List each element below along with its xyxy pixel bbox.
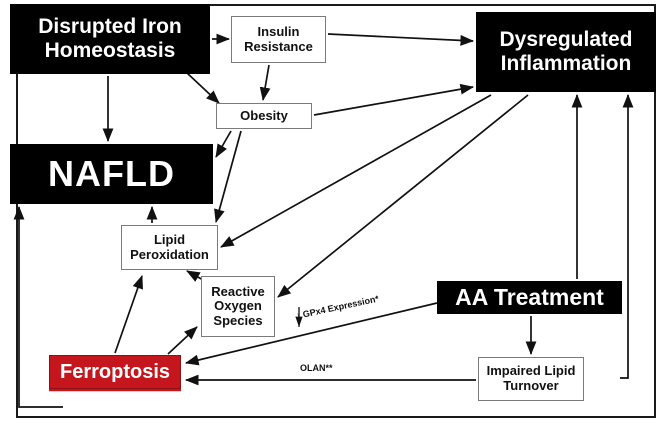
node-disrupted-iron-homeostasis-line1: Disrupted Iron: [38, 15, 182, 39]
node-dysregulated-inflammation[interactable]: Dysregulated Inflammation: [476, 12, 656, 92]
node-reactive-oxygen-species[interactable]: Reactive Oxygen Species: [201, 276, 275, 337]
node-nafld[interactable]: NAFLD: [10, 144, 213, 204]
node-impaired-lipid-turnover-line1: Impaired Lipid: [487, 364, 576, 379]
node-disrupted-iron-homeostasis[interactable]: Disrupted Iron Homeostasis: [10, 4, 210, 74]
node-reactive-oxygen-species-line3: Species: [213, 314, 262, 329]
node-aa-treatment[interactable]: AA Treatment: [437, 281, 622, 314]
node-aa-treatment-label: AA Treatment: [455, 285, 604, 311]
node-ferroptosis-label: Ferroptosis: [60, 361, 170, 383]
node-insulin-resistance[interactable]: Insulin Resistance: [231, 16, 326, 63]
edge-ferroptosis-to-reactive-oxygen-species: [168, 327, 197, 354]
edge-obesity-to-nafld: [216, 131, 231, 157]
node-nafld-label: NAFLD: [48, 154, 175, 194]
edge-inflammation-to-reactive-oxygen-species: [278, 95, 528, 297]
edge-insulin-resistance-to-obesity: [263, 65, 269, 100]
edge-obesity-to-lipid-peroxidation: [216, 131, 241, 222]
edge-ferroptosis-to-lipid-peroxidation: [115, 276, 142, 353]
node-disrupted-iron-homeostasis-line2: Homeostasis: [45, 39, 176, 63]
node-impaired-lipid-turnover[interactable]: Impaired Lipid Turnover: [478, 357, 584, 401]
edge-insulin-resistance-to-inflammation: [328, 34, 473, 41]
node-obesity[interactable]: Obesity: [216, 103, 312, 129]
node-impaired-lipid-turnover-line2: Turnover: [503, 379, 558, 394]
node-lipid-peroxidation[interactable]: Lipid Peroxidation: [121, 225, 218, 270]
node-insulin-resistance-line1: Insulin: [258, 25, 300, 40]
node-reactive-oxygen-species-line1: Reactive: [211, 285, 264, 300]
node-obesity-label: Obesity: [240, 109, 288, 124]
node-reactive-oxygen-species-line2: Oxygen: [214, 299, 262, 314]
node-lipid-peroxidation-line2: Peroxidation: [130, 248, 209, 263]
node-insulin-resistance-line2: Resistance: [244, 40, 313, 55]
node-lipid-peroxidation-line1: Lipid: [154, 233, 185, 248]
node-dysregulated-inflammation-line1: Dysregulated: [499, 28, 632, 52]
edge-obesity-to-inflammation: [314, 87, 473, 115]
node-dysregulated-inflammation-line2: Inflammation: [501, 52, 632, 76]
edge-impaired-lipid-turnover-to-inflammation: [620, 95, 628, 378]
edge-iron-to-obesity: [186, 72, 219, 103]
diagram-canvas: Disrupted Iron Homeostasis Insulin Resis…: [0, 0, 660, 424]
edge-label-olan: OLAN**: [300, 363, 333, 373]
node-ferroptosis[interactable]: Ferroptosis: [49, 355, 181, 389]
